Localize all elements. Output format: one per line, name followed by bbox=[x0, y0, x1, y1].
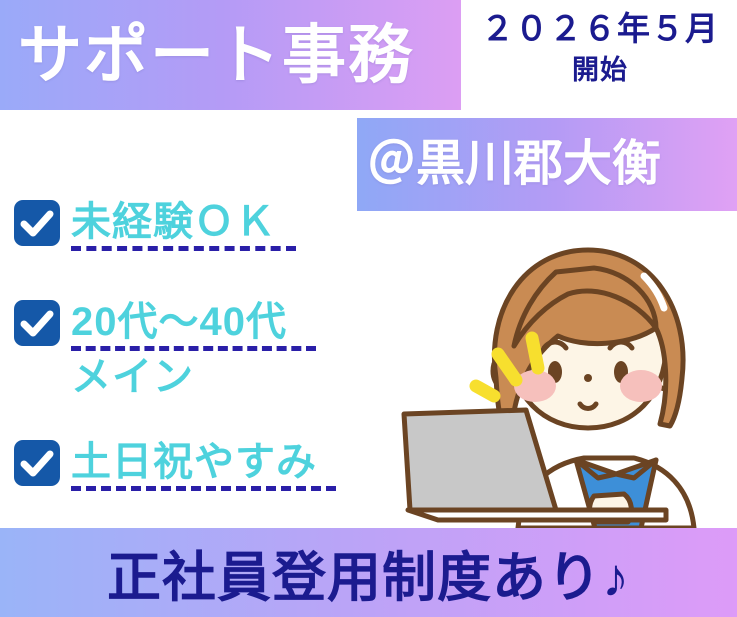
start-date-label: 開始 bbox=[466, 52, 734, 88]
start-date-year-month: ２０２６年５月 bbox=[466, 6, 734, 52]
feature-label-2: 20代〜40代 bbox=[71, 296, 316, 348]
feature-body-3: 土日祝やすみ bbox=[71, 436, 336, 491]
feature-label-3: 土日祝やすみ bbox=[71, 436, 336, 488]
feature-sublabel-2: メイン bbox=[71, 351, 316, 403]
checkmark-icon bbox=[14, 300, 60, 346]
start-date-block: ２０２６年５月 開始 bbox=[466, 6, 734, 88]
checkmark-icon bbox=[14, 200, 60, 246]
footer-text: 正社員登用制度あり♪ bbox=[0, 528, 737, 617]
woman-at-laptop-illustration bbox=[398, 228, 737, 528]
job-advert-banner: サポート事務 ２０２６年５月 開始 ＠黒川郡大衡 未経験ＯＫ bbox=[0, 0, 737, 617]
location-band: ＠黒川郡大衡 bbox=[357, 118, 737, 211]
checkmark-icon bbox=[14, 440, 60, 486]
feature-body-1: 未経験ＯＫ bbox=[71, 196, 296, 251]
feature-label-1: 未経験ＯＫ bbox=[71, 196, 296, 248]
feature-body-2: 20代〜40代 メイン bbox=[71, 296, 316, 403]
location-text: ＠黒川郡大衡 bbox=[367, 127, 661, 201]
job-title: サポート事務 bbox=[18, 10, 414, 100]
footer-band: 正社員登用制度あり♪ bbox=[0, 528, 737, 617]
job-title-band: サポート事務 bbox=[0, 0, 461, 110]
